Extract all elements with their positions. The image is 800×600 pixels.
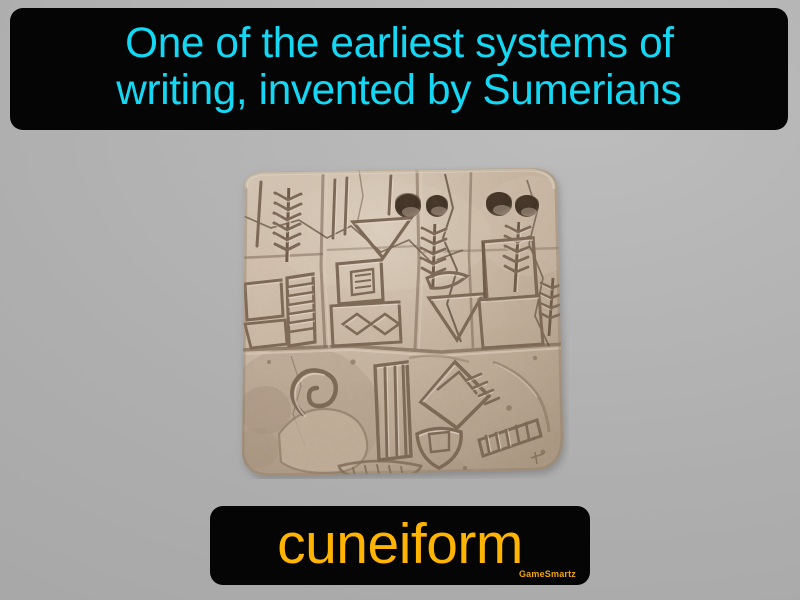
- term-plate: cuneiform GameSmartz: [210, 506, 590, 585]
- watermark-label: GameSmartz: [519, 569, 576, 579]
- definition-line-2: writing, invented by Sumerians: [117, 67, 682, 114]
- tablet-surface: [231, 166, 569, 479]
- definition-line-1: One of the earliest systems of: [125, 20, 673, 67]
- cuneiform-tablet-image: [231, 166, 569, 479]
- definition-card: One of the earliest systems of writing, …: [0, 0, 800, 600]
- tablet-illustration-svg: [231, 166, 569, 479]
- term-label: cuneiform: [277, 514, 523, 574]
- definition-plate: One of the earliest systems of writing, …: [10, 8, 788, 130]
